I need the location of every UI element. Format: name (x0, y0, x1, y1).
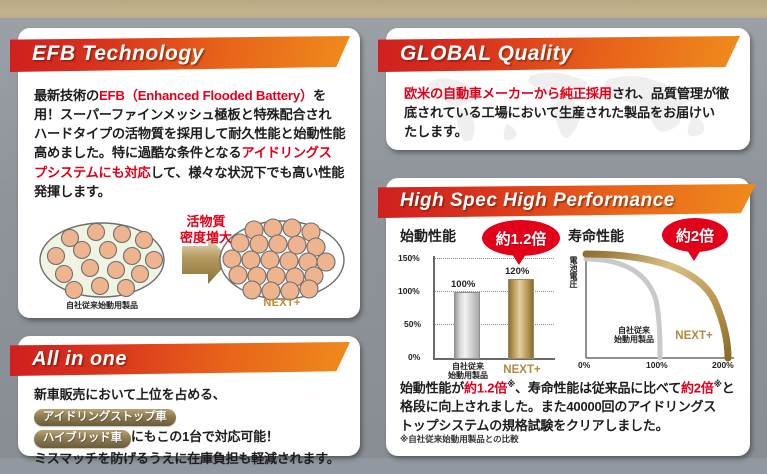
efb-body-line-2-run: 用！スーパーファインメッシュ極板と特殊配合され (34, 107, 331, 122)
high-spec-caption-line-1-run: ※ (507, 379, 515, 389)
density-label-line2: 密度増大 (166, 230, 246, 246)
curve-label-conventional: 自社従来 始動用製品 (606, 326, 662, 344)
bubble-life-performance: 約2倍 (662, 218, 728, 252)
chart-start-performance: 始動性能 約1.2倍 150% 100% 50% 0% 100% 120% 自社… (394, 226, 566, 378)
bubble-start-performance: 約1.2倍 (482, 220, 560, 256)
banner-global-quality-label: GLOBAL Quality (400, 42, 572, 66)
high-spec-caption: 始動性能が約1.2倍※、寿命性能は従来品に比べて約2倍※と格段に向上されました。… (400, 378, 744, 436)
efb-body-line-1: 最新技術のEFB（Enhanced Flooded Battery）を (34, 86, 352, 105)
all-in-one-line1-text: 新車販売において上位を占める、 (34, 387, 226, 402)
banner-all-in-one-label: All in one (32, 348, 127, 371)
bar-value-conventional: 100% (451, 279, 475, 290)
high-spec-caption-line-1: 始動性能が約1.2倍※、寿命性能は従来品に比べて約2倍※と (400, 378, 744, 398)
high-spec-caption-line-1-run: ※ (714, 379, 722, 389)
banner-efb-technology: EFB Technology (10, 36, 350, 72)
global-body-line-1-run: され、品質管理が徹 (612, 86, 729, 101)
efb-body-line-5: プシステムにも対応して、様々な状況下でも高い性能 (34, 163, 352, 182)
x-tick-0: 0% (578, 360, 590, 370)
global-body-line-2: 底されている工場において生産された製品をお届けい (404, 103, 740, 122)
global-body-line-2-run: 底されている工場において生産された製品をお届けい (404, 105, 715, 120)
banner-high-spec-label: High Spec High Performance (400, 190, 675, 212)
efb-body-line-2: 用！スーパーファインメッシュ極板と特殊配合され (34, 105, 352, 124)
particle-caption-right: NEXT+ (222, 297, 342, 309)
life-performance-svg (564, 226, 750, 378)
card-all-in-one: All in one 新車販売において上位を占める、アイドリングストップ車 ハイ… (18, 336, 360, 456)
gridline-100 (434, 291, 554, 292)
gridline-50 (434, 324, 554, 325)
global-body-line-1: 欧米の自動車メーカーから純正採用され、品質管理が徹 (404, 84, 740, 103)
bar-next-plus (508, 279, 534, 359)
global-body-line-3-run: たします。 (404, 124, 468, 139)
banner-all-in-one: All in one (10, 342, 350, 376)
curve-label-next-plus: NEXT+ (666, 330, 722, 343)
all-in-one-line-1: 新車販売において上位を占める、アイドリングストップ車 (34, 384, 354, 426)
efb-body-line-5-run: して、様々な状況下でも高い性能 (151, 165, 345, 180)
high-spec-caption-line-1-run: 始動性能が (400, 380, 464, 395)
y-axis-line (433, 256, 435, 360)
efb-body-line-3-run: ハードタイプの活物質を採用して耐久性能と始動性能 (34, 126, 345, 141)
high-spec-caption-line-1-run: と (722, 380, 735, 395)
x-axis-line (433, 358, 555, 360)
banner-global-quality: GLOBAL Quality (378, 36, 740, 72)
efb-body-line-6-run: 発揮します。 (34, 184, 111, 199)
card-global-quality: GLOBAL Quality 欧米の自動車メーカーから純正採用され、品質管理が徹… (386, 28, 750, 150)
x-tick-200: 200% (712, 360, 734, 370)
all-in-one-line-2: ハイブリッド車にもこの1台で対応可能！ (34, 426, 354, 447)
efb-body-line-1-run: EFB（Enhanced Flooded Battery） (99, 88, 313, 103)
card-efb-technology: EFB Technology 最新技術のEFB（Enhanced Flooded… (18, 28, 360, 318)
y-tick-150: 150% (398, 253, 420, 263)
global-body-line-1-run: 欧米の自動車メーカーから純正採用 (404, 86, 612, 101)
high-spec-footnote: ※自社従来始動用製品との比較 (400, 433, 519, 445)
bar-conventional (454, 292, 480, 359)
chart-start-performance-title: 始動性能 (400, 226, 456, 246)
efb-body-text: 最新技術のEFB（Enhanced Flooded Battery）を用！スーパ… (34, 86, 352, 201)
curve-label-conventional-line2: 始動用製品 (606, 335, 662, 344)
chart-life-performance: 寿命性能 約2倍 電池電圧 0% 100% 200% 自 (564, 226, 750, 378)
bar-label-next-plus: NEXT+ (492, 364, 552, 377)
high-spec-caption-line-1-run: 約1.2倍 (464, 380, 507, 395)
high-spec-caption-line-2: 格段に向上されました。また40000回のアイドリングス (400, 398, 744, 417)
high-spec-caption-line-3-run: トップシステムの規格試験をクリアしました。 (400, 418, 668, 433)
efb-body-line-5-run: プシステムにも対応 (34, 165, 151, 180)
efb-body-line-6: 発揮します。 (34, 182, 352, 201)
global-body-line-3: たします。 (404, 122, 740, 141)
curve-label-conventional-line1: 自社従来 (606, 326, 662, 335)
efb-body-line-4: 高めました。特に過酷な条件となるアイドリングス (34, 143, 352, 162)
y-tick-0: 0% (408, 352, 420, 362)
pill-hybrid-vehicle: ハイブリッド車 (34, 430, 131, 447)
y-tick-100: 100% (398, 286, 420, 296)
bar-value-next-plus: 120% (505, 266, 529, 277)
high-spec-caption-line-2-run: 格段に向上されました。また40000回のアイドリングス (400, 399, 716, 414)
all-in-one-line-3: ミスマッチを防げるうえに在庫負担も軽減されます。 (34, 448, 354, 469)
bar-label-conventional-line1: 自社従来 (438, 362, 498, 371)
x-tick-100: 100% (646, 360, 668, 370)
efb-body-line-1-run: 最新技術の (34, 88, 99, 103)
density-increase-label: 活物質 密度増大 (166, 214, 246, 245)
banner-high-spec: High Spec High Performance (378, 184, 756, 218)
card-high-spec: High Spec High Performance 始動性能 約1.2倍 15… (386, 178, 750, 456)
banner-efb-label: EFB Technology (32, 42, 204, 66)
gridline-150 (434, 258, 554, 259)
all-in-one-body: 新車販売において上位を占める、アイドリングストップ車 ハイブリッド車にもこの1台… (34, 384, 354, 469)
pill-idling-stop-vehicle: アイドリングストップ車 (34, 409, 176, 426)
efb-body-line-4-run: 高めました。特に過酷な条件となる (34, 145, 241, 160)
particle-caption-left: 自社従来始動用製品 (42, 300, 162, 311)
global-quality-body: 欧米の自動車メーカーから純正採用され、品質管理が徹底されている工場において生産さ… (404, 84, 740, 141)
efb-body-line-1-run: を (313, 88, 326, 103)
density-label-line1: 活物質 (166, 214, 246, 230)
high-spec-caption-line-1-run: 約2倍 (681, 380, 714, 395)
efb-body-line-4-run: アイドリングス (241, 145, 331, 160)
efb-body-line-3: ハードタイプの活物質を採用して耐久性能と始動性能 (34, 124, 352, 143)
all-in-one-line2-text: にもこの1台で対応可能！ (131, 429, 279, 444)
high-spec-caption-line-1-run: 、寿命性能は従来品に比べて (515, 380, 681, 395)
y-tick-50: 50% (404, 319, 421, 329)
